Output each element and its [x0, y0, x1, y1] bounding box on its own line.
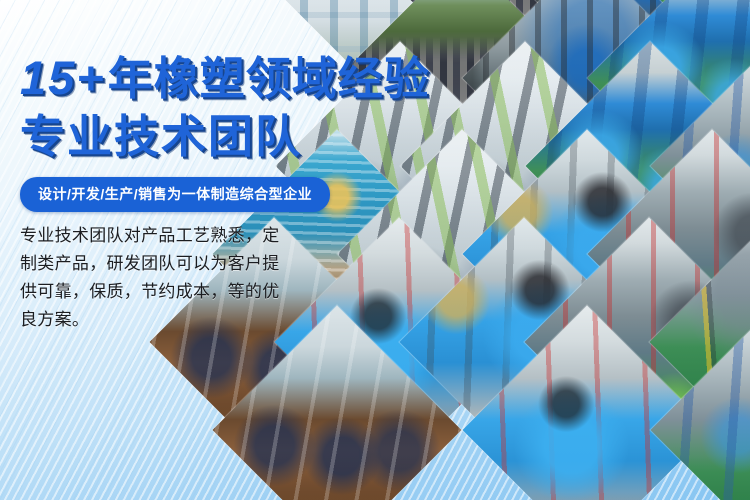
- headline-block: 15+年橡塑领域经验 专业技术团队: [20, 54, 450, 159]
- description-paragraph: 专业技术团队对产品工艺熟悉，定制类产品，研发团队可以为客户提供可靠，保质，节约成…: [20, 222, 288, 334]
- promo-banner: 15+年橡塑领域经验 专业技术团队 设计/开发/生产/销售为一体制造综合型企业 …: [0, 0, 750, 500]
- headline-line-1: 15+年橡塑领域经验: [20, 54, 450, 101]
- capability-badge: 设计/开发/生产/销售为一体制造综合型企业: [20, 177, 330, 212]
- text-column: 15+年橡塑领域经验 专业技术团队 设计/开发/生产/销售为一体制造综合型企业 …: [0, 0, 370, 500]
- years-number: 15+: [20, 51, 108, 104]
- headline-line-2: 专业技术团队: [20, 114, 450, 159]
- headline-line-1-rest: 年橡塑领域经验: [108, 53, 430, 104]
